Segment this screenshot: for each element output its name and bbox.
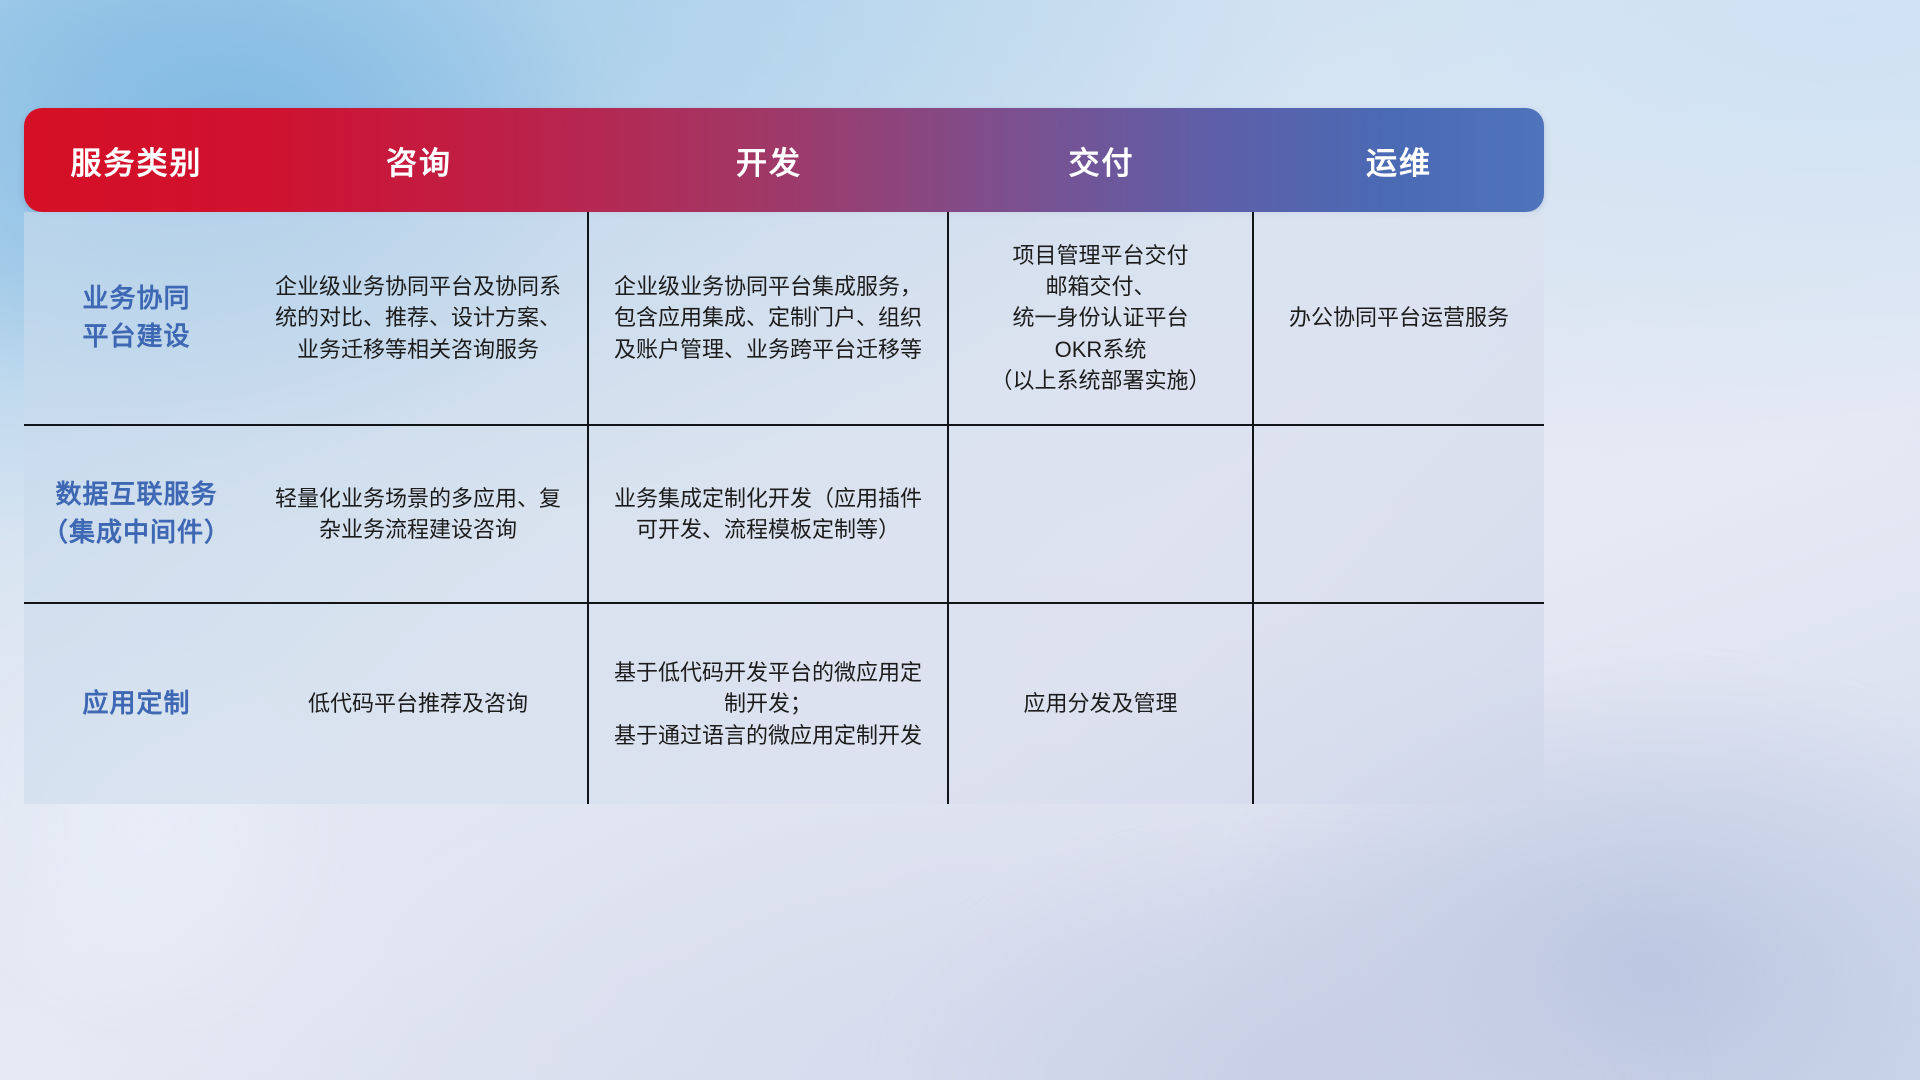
cell-operations: 办公协同平台运营服务 — [1254, 212, 1544, 424]
cell-development: 基于低代码开发平台的微应用定 制开发； 基于通过语言的微应用定制开发 — [589, 604, 949, 804]
cell-delivery: 项目管理平台交付 邮箱交付、 统一身份认证平台 OKR系统 （以上系统部署实施） — [949, 212, 1254, 424]
row-category-label: 业务协同 平台建设 — [24, 212, 249, 424]
service-category-table: 服务类别 咨询 开发 交付 运维 业务协同 平台建设 企业级业务协同平台及协同系… — [24, 108, 1544, 804]
column-header-delivery: 交付 — [949, 108, 1254, 212]
cell-delivery — [949, 426, 1254, 602]
table-row: 应用定制 低代码平台推荐及咨询 基于低代码开发平台的微应用定 制开发； 基于通过… — [24, 604, 1544, 804]
column-header-consulting: 咨询 — [249, 108, 589, 212]
cell-operations — [1254, 604, 1544, 804]
row-category-label: 数据互联服务 （集成中间件） — [24, 426, 249, 602]
cell-development: 业务集成定制化开发（应用插件 可开发、流程模板定制等） — [589, 426, 949, 602]
table-header-row: 服务类别 咨询 开发 交付 运维 — [24, 108, 1544, 212]
table-body: 业务协同 平台建设 企业级业务协同平台及协同系 统的对比、推荐、设计方案、 业务… — [24, 212, 1544, 804]
table-row: 数据互联服务 （集成中间件） 轻量化业务场景的多应用、复 杂业务流程建设咨询 业… — [24, 426, 1544, 604]
cell-operations — [1254, 426, 1544, 602]
cell-delivery: 应用分发及管理 — [949, 604, 1254, 804]
background-blob-bottom-center — [883, 820, 1703, 1080]
table-row: 业务协同 平台建设 企业级业务协同平台及协同系 统的对比、推荐、设计方案、 业务… — [24, 212, 1544, 426]
column-header-category: 服务类别 — [24, 108, 249, 212]
cell-consulting: 轻量化业务场景的多应用、复 杂业务流程建设咨询 — [249, 426, 589, 602]
row-category-label: 应用定制 — [24, 604, 249, 804]
cell-consulting: 企业级业务协同平台及协同系 统的对比、推荐、设计方案、 业务迁移等相关咨询服务 — [249, 212, 589, 424]
cell-consulting: 低代码平台推荐及咨询 — [249, 604, 589, 804]
column-header-operations: 运维 — [1254, 108, 1544, 212]
column-header-development: 开发 — [589, 108, 949, 212]
cell-development: 企业级业务协同平台集成服务， 包含应用集成、定制门户、组织 及账户管理、业务跨平… — [589, 212, 949, 424]
